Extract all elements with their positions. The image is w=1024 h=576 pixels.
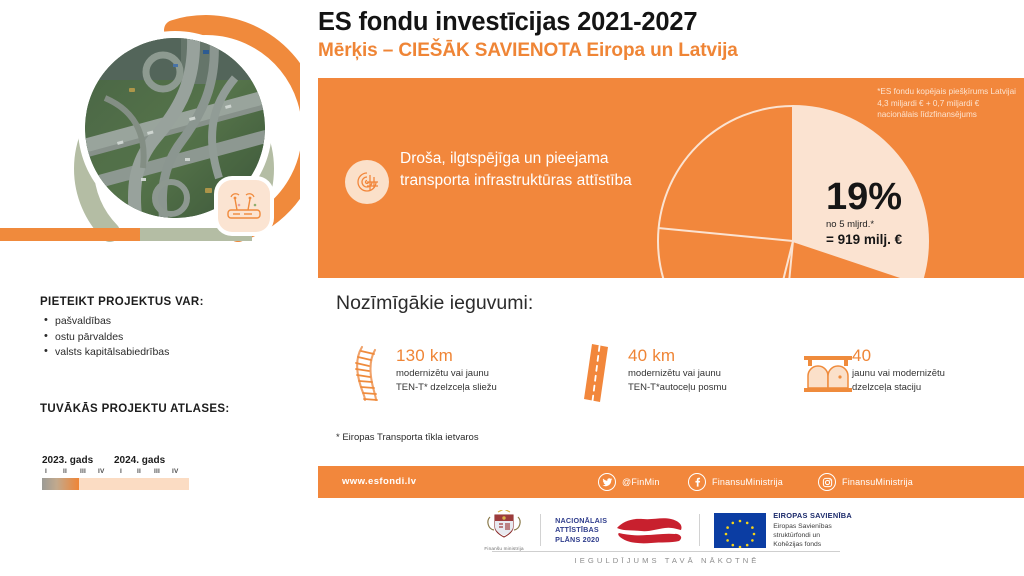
- twitter-bird-svg: [602, 477, 613, 488]
- benefits-heading: Nozīmīgākie ieguvumi:: [336, 292, 533, 315]
- hero-panel: *ES fondu kopējais piešķīrums Latvijai 4…: [318, 78, 1024, 278]
- baseline-bar-svg: [0, 228, 252, 241]
- facebook-icon[interactable]: [688, 473, 706, 491]
- website-link[interactable]: www.esfondi.lv: [342, 476, 416, 487]
- benefit-desc-line1: modernizētu vai jaunu: [628, 367, 788, 381]
- quarter-label: I: [120, 468, 122, 475]
- wifi-router-icon: [218, 180, 270, 232]
- baseline-bar: [0, 228, 252, 241]
- benefit-desc-line1: jaunu vai modernizētu: [852, 367, 1012, 381]
- percentage-base: no 5 mljrd.*: [826, 219, 966, 230]
- pie-stat-block: 19% no 5 mljrd.* = 919 milj. €: [826, 178, 966, 247]
- main-content: ES fondu investīcijas 2021-2027 Mērķis –…: [310, 0, 1024, 576]
- twitter-icon[interactable]: [598, 473, 616, 491]
- apply-list: pašvaldības ostu pārvaldes valsts kapitā…: [44, 314, 169, 361]
- nap-line-3: PLĀNS 2020: [555, 535, 607, 545]
- benefit-text: 40 km modernizētu vai jaunu TEN-T*autoce…: [628, 346, 788, 394]
- quarter-label: III: [154, 468, 160, 475]
- tagline: IEGULDĪJUMS TAVĀ NĀKOTNĒ: [310, 556, 1024, 565]
- benefit-text: 40 jaunu vai modernizētu dzelzceļa staci…: [852, 346, 1012, 394]
- tagline-divider: [492, 551, 840, 552]
- ministry-caption: Finanšu ministrija: [482, 546, 526, 551]
- page-title: ES fondu investīcijas 2021-2027: [318, 8, 697, 37]
- infographic-page: PIETEIKT PROJEKTUS VAR: pašvaldības ostu…: [0, 0, 1024, 576]
- list-item: valsts kapitālsabiedrības: [44, 345, 169, 361]
- benefit-value: 130 km: [396, 346, 556, 365]
- facebook-handle[interactable]: FinansuMinistrija: [712, 477, 783, 487]
- objective-text: Droša, ilgtspējīga un pieejama transport…: [400, 148, 650, 192]
- quarter-label: I: [45, 468, 47, 475]
- eu-flag-icon: [714, 513, 766, 548]
- benefit-desc-line2: TEN-T*autoceļu posmu: [628, 381, 788, 395]
- selections-heading: TUVĀKĀS PROJEKTU ATLASES:: [40, 402, 240, 417]
- latvia-map-icon: [613, 512, 685, 548]
- eu-line-3: Kohēzijas fonds: [773, 540, 852, 549]
- railway-track-svg: [346, 344, 390, 402]
- benefit-value: 40 km: [628, 346, 788, 365]
- benefit-desc-line2: TEN-T* dzelzceļa sliežu: [396, 381, 556, 395]
- logo-bar: Finanšu ministrija NACIONĀLAIS ATTĪSTĪBA…: [310, 506, 1024, 554]
- eu-logo: EIROPAS SAVIENĪBA Eiropas Savienības str…: [700, 509, 866, 551]
- list-item: ostu pārvaldes: [44, 330, 169, 346]
- road-segment-icon: [578, 344, 622, 402]
- benefit-text: 130 km modernizētu vai jaunu TEN-T* dzel…: [396, 346, 556, 394]
- quarter-label: IV: [98, 468, 105, 475]
- social-twitter[interactable]: @FinMin: [598, 473, 660, 491]
- benefit-value: 40: [852, 346, 1012, 365]
- year-label-2023: 2023. gads: [42, 455, 93, 466]
- footer-bar: www.esfondi.lv @FinMin FinansuMinistrija: [318, 466, 1024, 498]
- eu-line-2: struktūrfondi un: [773, 531, 852, 540]
- benefit-desc: modernizētu vai jaunu TEN-T*autoceļu pos…: [628, 367, 788, 394]
- twitter-handle[interactable]: @FinMin: [622, 477, 660, 487]
- instagram-handle[interactable]: FinansuMinistrija: [842, 477, 913, 487]
- year-label-2024: 2024. gads: [114, 455, 165, 466]
- nap-line-2: ATTĪSTĪBAS: [555, 525, 607, 535]
- railway-station-svg: [802, 352, 854, 396]
- nap-logo: NACIONĀLAIS ATTĪSTĪBAS PLĀNS 2020: [541, 509, 699, 551]
- timeline-active-segment: [42, 478, 79, 490]
- quarter-label: IV: [172, 468, 179, 475]
- left-sidebar: PIETEIKT PROJEKTUS VAR: pašvaldības ostu…: [0, 0, 310, 576]
- railway-station-icon: [802, 352, 846, 410]
- facebook-f-svg: [692, 477, 703, 488]
- timeline-bar: [42, 478, 189, 490]
- eu-title: EIROPAS SAVIENĪBA: [773, 511, 852, 520]
- social-instagram[interactable]: FinansuMinistrija: [818, 473, 913, 491]
- benefits-footnote: * Eiropas Transporta tīkla ietvaros: [336, 432, 479, 443]
- transport-network-icon: [345, 160, 389, 204]
- eu-line-1: Eiropas Savienības: [773, 522, 852, 531]
- road-segment-svg: [578, 344, 622, 402]
- nap-line-1: NACIONĀLAIS: [555, 516, 607, 526]
- quarter-label: II: [63, 468, 67, 475]
- benefit-desc-line2: dzelzceļa staciju: [852, 381, 1012, 395]
- list-item: pašvaldības: [44, 314, 169, 330]
- instagram-icon[interactable]: [818, 473, 836, 491]
- instagram-glyph-svg: [822, 477, 833, 488]
- page-subtitle: Mērķis – CIEŠĀK SAVIENOTA Eiropa un Latv…: [318, 40, 738, 62]
- latvia-coat-of-arms-icon: [482, 510, 526, 540]
- timeline-quarter-labels: I II III IV I II III IV: [42, 468, 190, 478]
- percentage-value: 19%: [826, 178, 966, 216]
- benefit-desc: jaunu vai modernizētu dzelzceļa staciju: [852, 367, 1012, 394]
- railway-track-icon: [346, 344, 390, 402]
- quarter-label: II: [137, 468, 141, 475]
- apply-heading: PIETEIKT PROJEKTUS VAR:: [40, 296, 204, 308]
- quarter-label: III: [80, 468, 86, 475]
- social-facebook[interactable]: FinansuMinistrija: [688, 473, 783, 491]
- router-svg: [224, 190, 264, 222]
- benefit-desc: modernizētu vai jaunu TEN-T* dzelzceļa s…: [396, 367, 556, 394]
- benefit-desc-line1: modernizētu vai jaunu: [396, 367, 556, 381]
- percentage-amount: = 919 milj. €: [826, 232, 966, 247]
- ministry-logo: Finanšu ministrija: [468, 509, 540, 551]
- transport-network-svg: [354, 169, 380, 195]
